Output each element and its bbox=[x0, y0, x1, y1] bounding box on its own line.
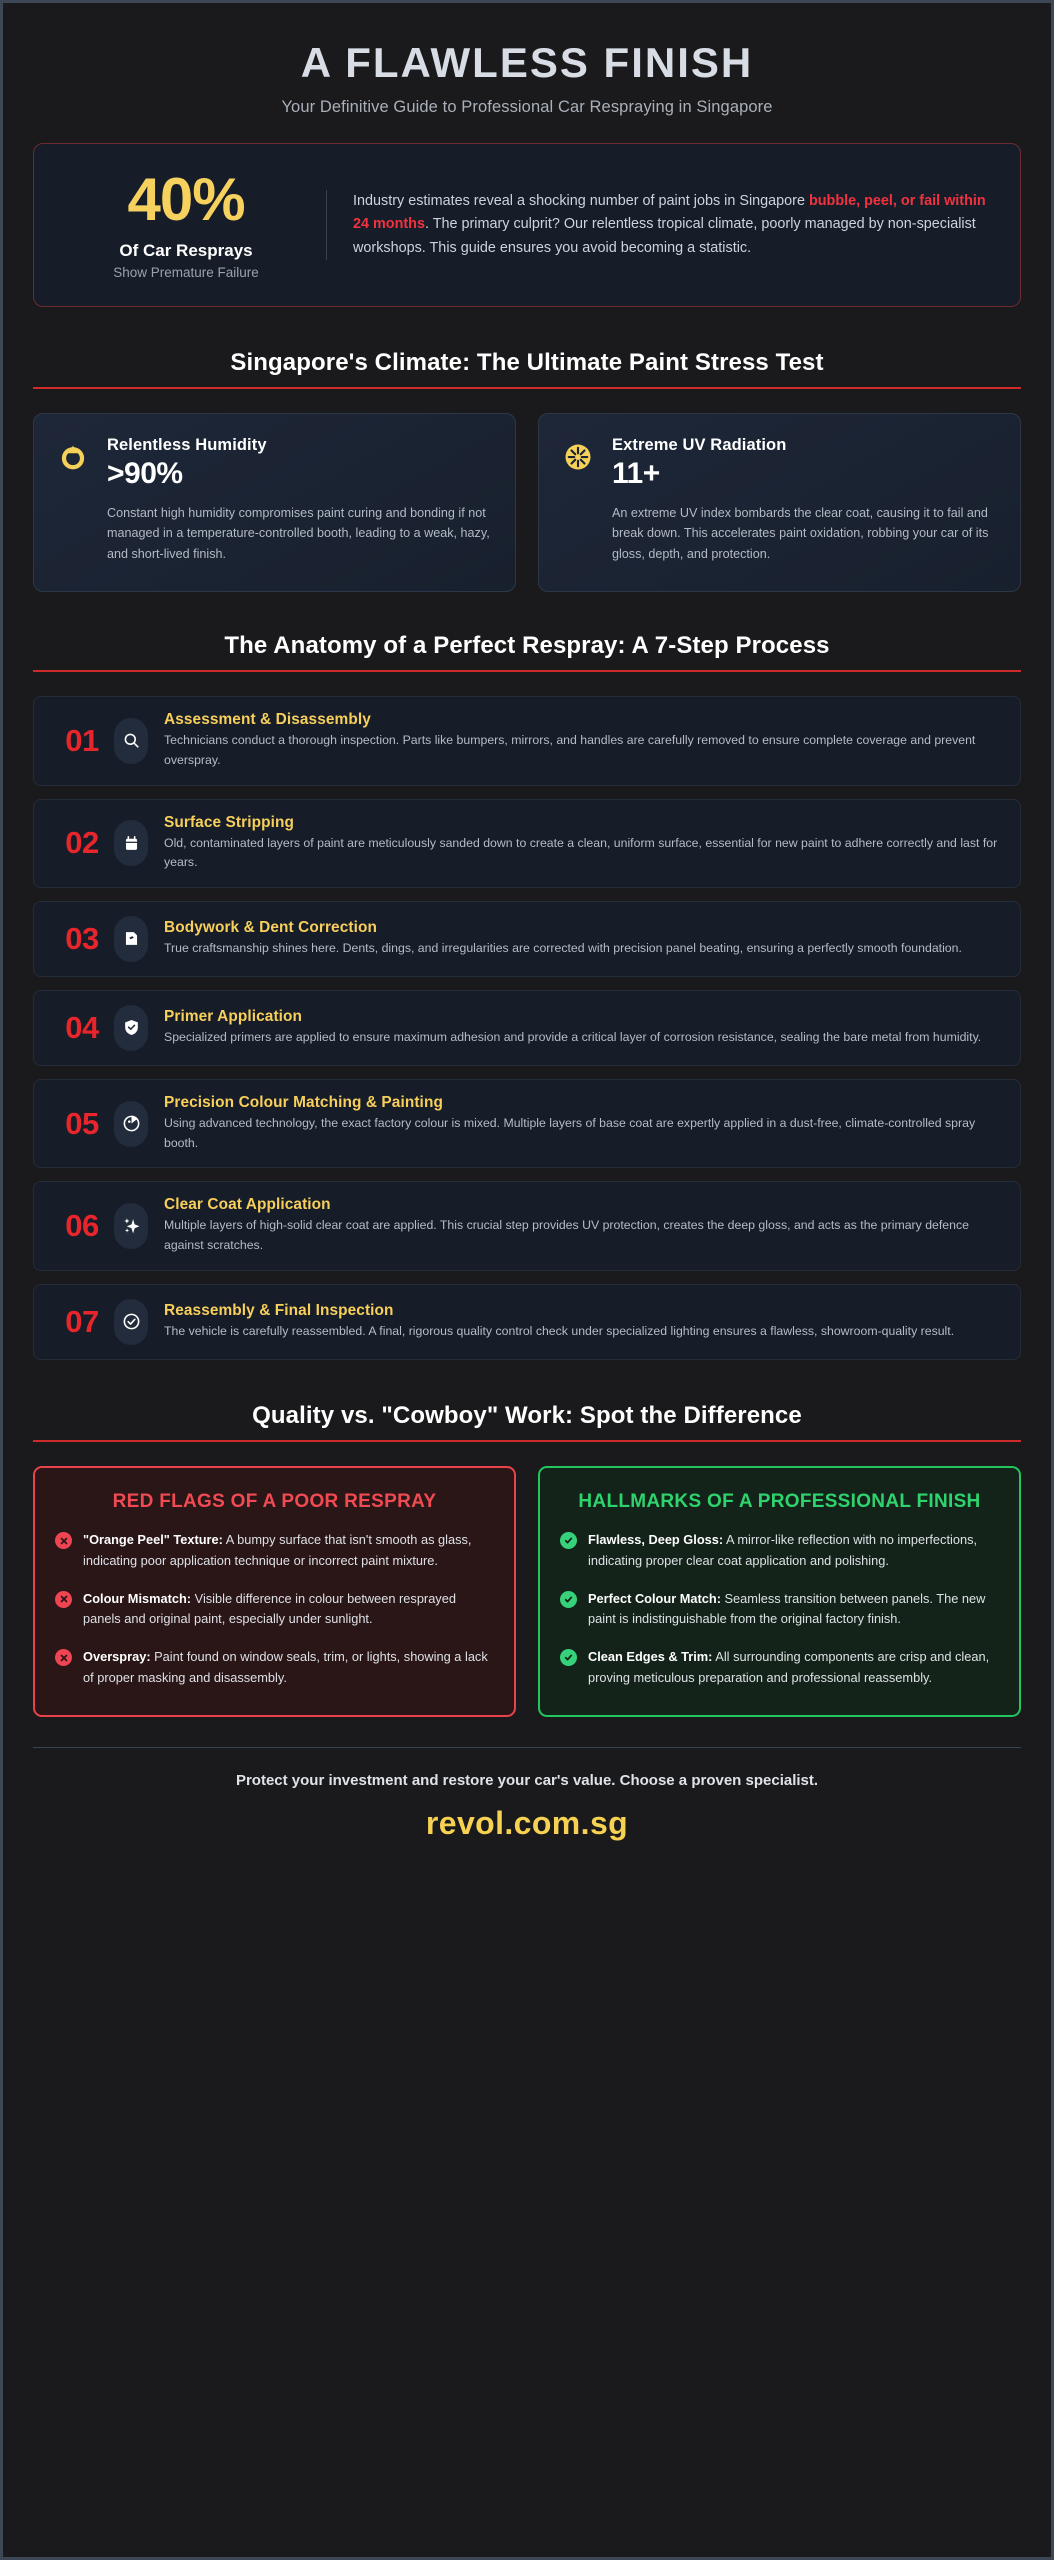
page-subtitle: Your Definitive Guide to Professional Ca… bbox=[33, 98, 1021, 117]
list-item: Flawless, Deep Gloss: A mirror-like refl… bbox=[560, 1530, 999, 1571]
climate-card-humidity: Relentless Humidity >90% Constant high h… bbox=[33, 413, 516, 592]
statistic-label: Of Car Resprays bbox=[64, 241, 308, 261]
process-step: 06 Clear Coat Application Multiple layer… bbox=[33, 1181, 1021, 1270]
x-mark-icon bbox=[55, 1649, 72, 1666]
list-item: Perfect Colour Match: Seamless transitio… bbox=[560, 1589, 999, 1630]
step-number: 05 bbox=[50, 1106, 114, 1142]
page-footer: Protect your investment and restore your… bbox=[33, 1772, 1021, 1882]
list-item: Clean Edges & Trim: All surrounding comp… bbox=[560, 1647, 999, 1688]
process-step: 07 Reassembly & Final Inspection The veh… bbox=[33, 1284, 1021, 1360]
panel-repair-icon bbox=[114, 916, 148, 962]
process-step: 02 Surface Stripping Old, contaminated l… bbox=[33, 799, 1021, 888]
climate-value: 11+ bbox=[612, 457, 996, 492]
check-mark-icon bbox=[560, 1532, 577, 1549]
climate-card-row: Relentless Humidity >90% Constant high h… bbox=[33, 413, 1021, 592]
page-title: A FLAWLESS FINISH bbox=[33, 39, 1021, 86]
list-item: "Orange Peel" Texture: A bumpy surface t… bbox=[55, 1530, 494, 1571]
shield-check-icon bbox=[114, 1005, 148, 1051]
statistic-number: 40% bbox=[64, 170, 308, 230]
step-title: Primer Application bbox=[164, 1008, 1000, 1026]
step-description: The vehicle is carefully reassembled. A … bbox=[164, 1322, 1000, 1342]
step-title: Clear Coat Application bbox=[164, 1196, 1000, 1214]
comparison-row: RED FLAGS OF A POOR RESPRAY "Orange Peel… bbox=[33, 1466, 1021, 1717]
step-number: 07 bbox=[50, 1304, 114, 1340]
climate-section-heading: Singapore's Climate: The Ultimate Paint … bbox=[33, 335, 1021, 387]
check-mark-icon bbox=[560, 1591, 577, 1608]
step-title: Assessment & Disassembly bbox=[164, 711, 1000, 729]
infographic-page: A FLAWLESS FINISH Your Definitive Guide … bbox=[0, 0, 1054, 2560]
sun-uv-icon bbox=[561, 440, 595, 474]
list-item-term: Perfect Colour Match: bbox=[588, 1591, 721, 1606]
page-header: A FLAWLESS FINISH Your Definitive Guide … bbox=[33, 25, 1021, 143]
climate-heading-rule bbox=[33, 387, 1021, 389]
sanding-block-icon bbox=[114, 820, 148, 866]
step-number: 04 bbox=[50, 1010, 114, 1046]
list-item-term: "Orange Peel" Texture: bbox=[83, 1532, 223, 1547]
step-number: 02 bbox=[50, 825, 114, 861]
step-number: 03 bbox=[50, 921, 114, 957]
statistic-sublabel: Show Premature Failure bbox=[64, 265, 308, 280]
process-step: 01 Assessment & Disassembly Technicians … bbox=[33, 696, 1021, 785]
step-description: Old, contaminated layers of paint are me… bbox=[164, 834, 1000, 873]
statistic-description: Industry estimates reveal a shocking num… bbox=[326, 190, 990, 260]
step-description: True craftsmanship shines here. Dents, d… bbox=[164, 939, 1000, 959]
step-number: 01 bbox=[50, 723, 114, 759]
statistic-text-lead: Industry estimates reveal a shocking num… bbox=[353, 193, 809, 209]
comparison-heading-rule bbox=[33, 1440, 1021, 1442]
comparison-card-hallmarks: HALLMARKS OF A PROFESSIONAL FINISH Flawl… bbox=[538, 1466, 1021, 1717]
comparison-card-red-flags: RED FLAGS OF A POOR RESPRAY "Orange Peel… bbox=[33, 1466, 516, 1717]
step-description: Using advanced technology, the exact fac… bbox=[164, 1114, 1000, 1153]
process-section-heading: The Anatomy of a Perfect Respray: A 7-St… bbox=[33, 618, 1021, 670]
process-step: 03 Bodywork & Dent Correction True craft… bbox=[33, 901, 1021, 977]
comparison-section-heading: Quality vs. "Cowboy" Work: Spot the Diff… bbox=[33, 1388, 1021, 1440]
list-item: Colour Mismatch: Visible difference in c… bbox=[55, 1589, 494, 1630]
step-title: Surface Stripping bbox=[164, 814, 1000, 832]
sparkle-icon bbox=[114, 1203, 148, 1249]
list-item-term: Colour Mismatch: bbox=[83, 1591, 191, 1606]
footer-divider bbox=[33, 1747, 1021, 1748]
check-mark-icon bbox=[560, 1649, 577, 1666]
climate-value: >90% bbox=[107, 457, 491, 492]
climate-card-uv: Extreme UV Radiation 11+ An extreme UV i… bbox=[538, 413, 1021, 592]
step-title: Reassembly & Final Inspection bbox=[164, 1302, 1000, 1320]
footer-url[interactable]: revol.com.sg bbox=[33, 1805, 1021, 1842]
x-mark-icon bbox=[55, 1591, 72, 1608]
statistic-figure: 40% Of Car Resprays Show Premature Failu… bbox=[64, 170, 326, 280]
comparison-card-heading: HALLMARKS OF A PROFESSIONAL FINISH bbox=[560, 1490, 999, 1515]
magnifier-icon bbox=[114, 718, 148, 764]
step-description: Specialized primers are applied to ensur… bbox=[164, 1028, 1000, 1048]
step-description: Multiple layers of high-solid clear coat… bbox=[164, 1216, 1000, 1255]
step-number: 06 bbox=[50, 1208, 114, 1244]
x-mark-icon bbox=[55, 1532, 72, 1549]
statistic-banner: 40% Of Car Resprays Show Premature Failu… bbox=[33, 143, 1021, 307]
step-title: Bodywork & Dent Correction bbox=[164, 919, 1000, 937]
process-step-list: 01 Assessment & Disassembly Technicians … bbox=[33, 696, 1021, 1359]
colour-palette-icon bbox=[114, 1101, 148, 1147]
statistic-text-tail: . The primary culprit? Our relentless tr… bbox=[353, 216, 976, 255]
climate-title: Relentless Humidity bbox=[107, 436, 491, 455]
list-item-term: Flawless, Deep Gloss: bbox=[588, 1532, 723, 1547]
process-heading-rule bbox=[33, 670, 1021, 672]
climate-description: Constant high humidity compromises paint… bbox=[107, 503, 491, 566]
process-step: 05 Precision Colour Matching & Painting … bbox=[33, 1079, 1021, 1168]
step-description: Technicians conduct a thorough inspectio… bbox=[164, 731, 1000, 770]
climate-description: An extreme UV index bombards the clear c… bbox=[612, 503, 996, 566]
water-droplet-icon bbox=[56, 440, 90, 474]
comparison-card-heading: RED FLAGS OF A POOR RESPRAY bbox=[55, 1490, 494, 1515]
check-circle-icon bbox=[114, 1299, 148, 1345]
list-item-term: Overspray: bbox=[83, 1649, 151, 1664]
process-step: 04 Primer Application Specialized primer… bbox=[33, 990, 1021, 1066]
footer-tagline: Protect your investment and restore your… bbox=[33, 1772, 1021, 1789]
list-item-term: Clean Edges & Trim: bbox=[588, 1649, 712, 1664]
list-item: Overspray: Paint found on window seals, … bbox=[55, 1647, 494, 1688]
climate-title: Extreme UV Radiation bbox=[612, 436, 996, 455]
step-title: Precision Colour Matching & Painting bbox=[164, 1094, 1000, 1112]
